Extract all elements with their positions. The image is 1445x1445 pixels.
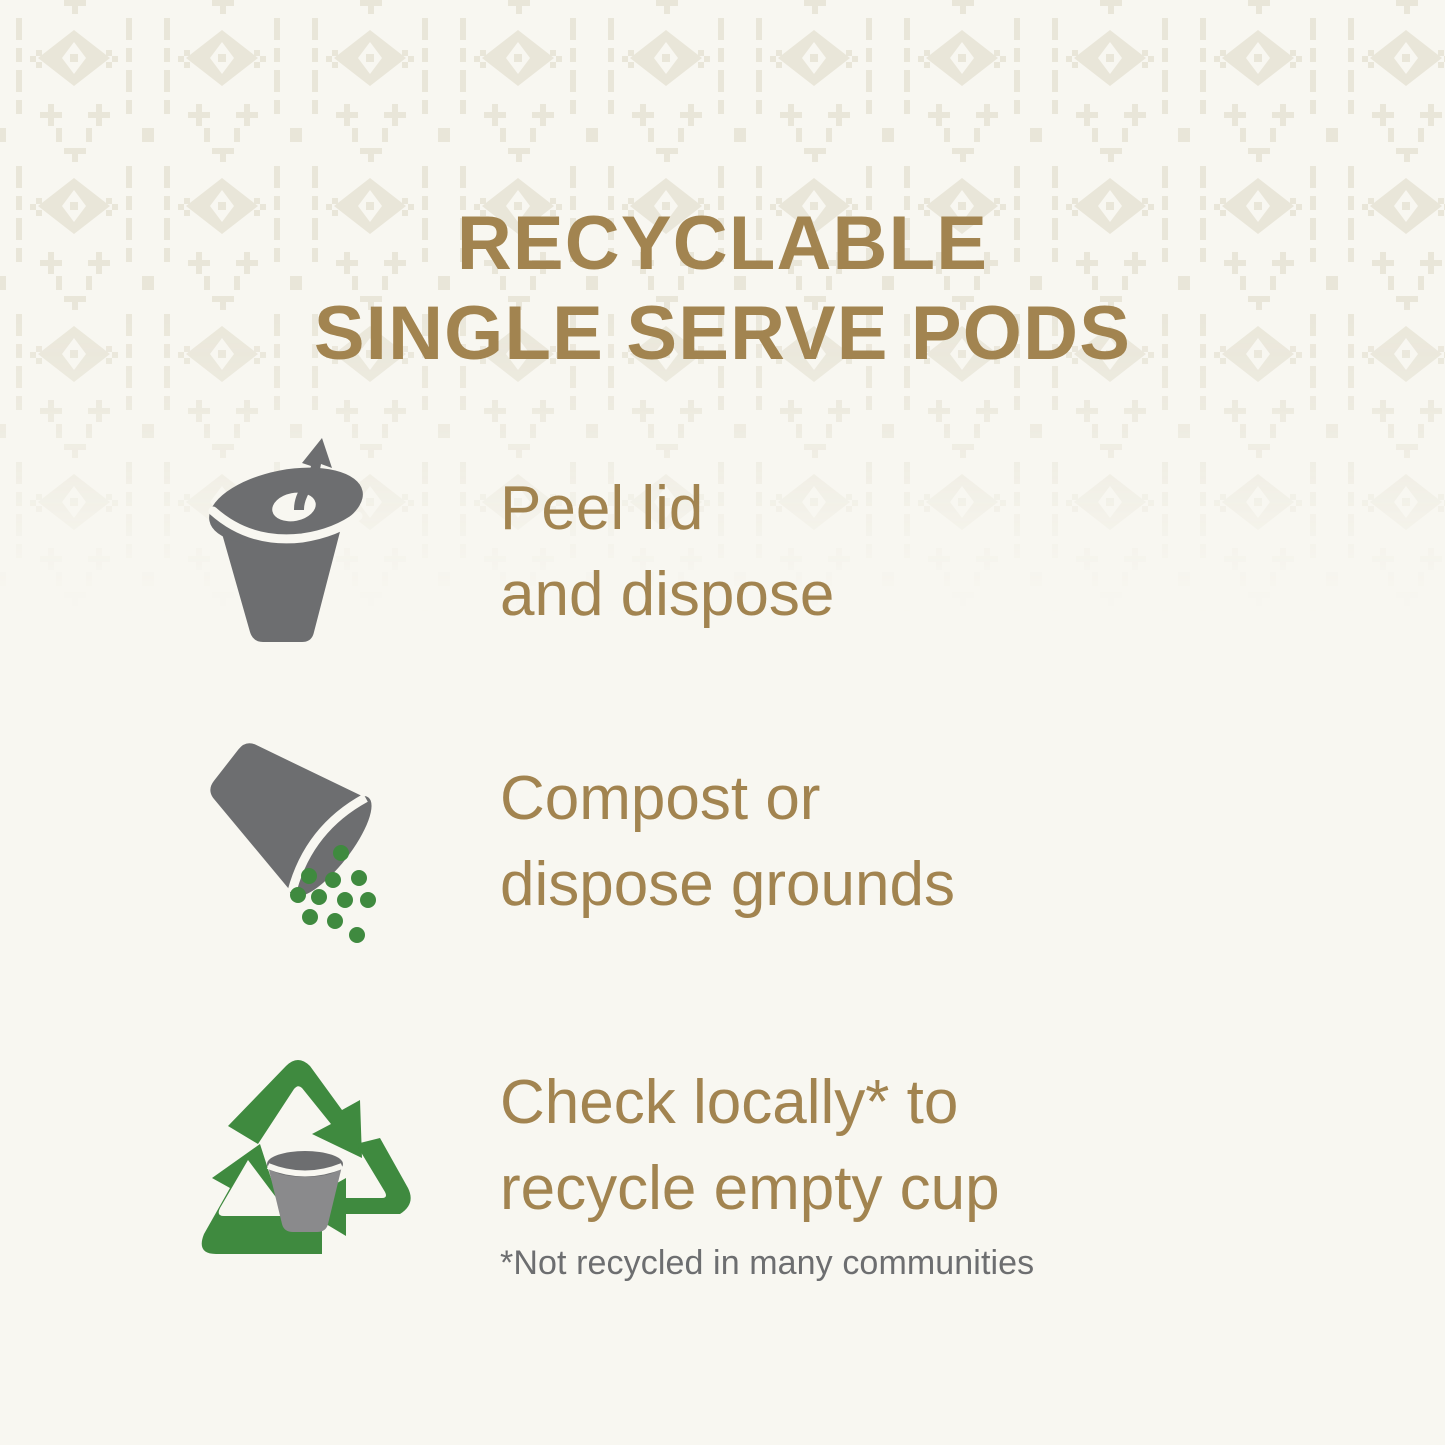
page-title-line-2: SINGLE SERVE PODS <box>0 289 1445 379</box>
step-text-line-2: and dispose <box>500 552 1330 638</box>
step-text-line-1: Peel lid <box>500 466 1330 552</box>
step-text-line-2: recycle empty cup <box>500 1146 1330 1232</box>
coffee-pod-pouring-grounds-icon <box>190 722 420 952</box>
page-title-line-1: RECYCLABLE <box>0 199 1445 289</box>
step-text-line-1: Check locally* to <box>500 1060 1330 1146</box>
infographic-canvas: RECYCLABLE SINGLE SERVE PODS <box>0 0 1445 1445</box>
step-text-compost-grounds: Compost or dispose grounds <box>420 722 1330 927</box>
step-text-recycle-cup: Check locally* to recycle empty cup *Not… <box>420 1048 1330 1284</box>
step-row-recycle-cup: Check locally* to recycle empty cup *Not… <box>190 1048 1330 1284</box>
page-title: RECYCLABLE SINGLE SERVE PODS <box>0 199 1445 378</box>
coffee-pod-peel-lid-icon <box>190 432 420 662</box>
step-text-line-2: dispose grounds <box>500 842 1330 928</box>
footnote-not-recycled: *Not recycled in many communities <box>500 1243 1330 1284</box>
recycle-pod-icon <box>190 1048 420 1278</box>
step-row-compost-grounds: Compost or dispose grounds <box>190 722 1330 952</box>
step-text-peel-lid: Peel lid and dispose <box>420 432 1330 637</box>
step-text-line-1: Compost or <box>500 756 1330 842</box>
step-row-peel-lid: Peel lid and dispose <box>190 432 1330 662</box>
